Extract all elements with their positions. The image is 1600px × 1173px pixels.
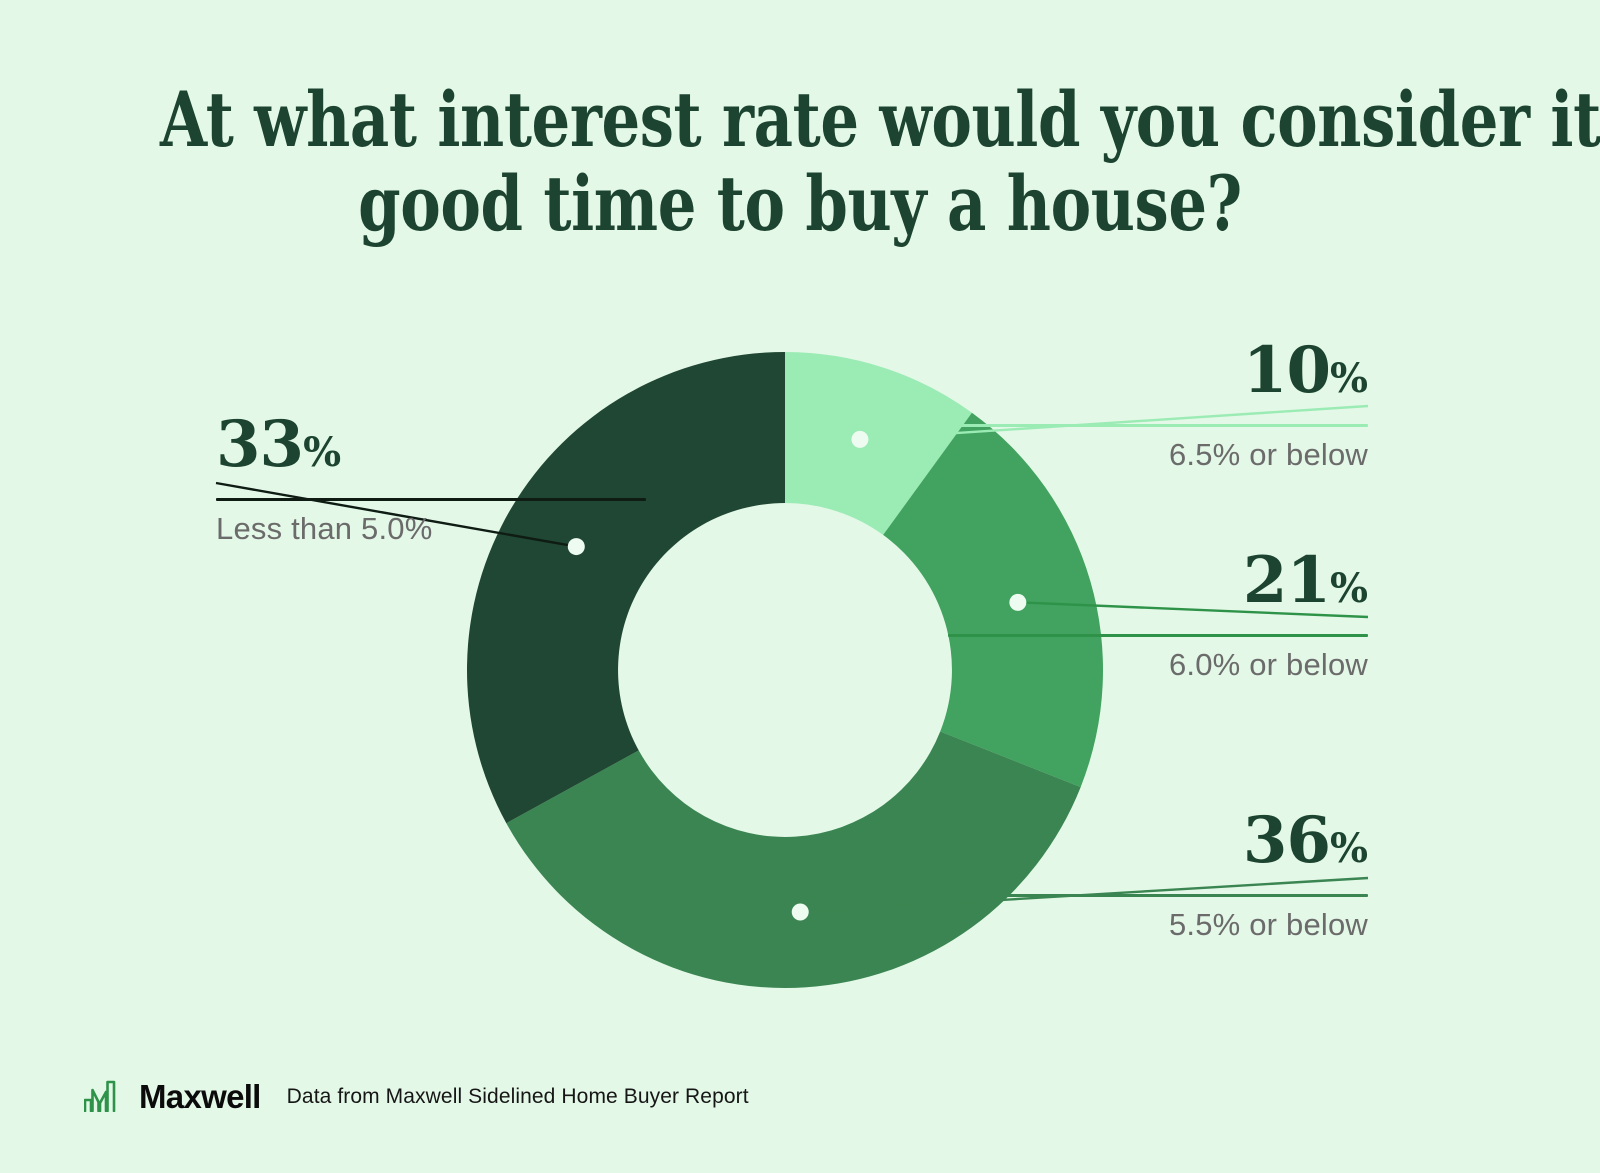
callout-rule-36	[948, 894, 1368, 897]
leader-dot-36	[792, 903, 809, 920]
callout-rule-33	[216, 498, 646, 501]
page-title-line-2: good time to buy a house?	[160, 162, 1440, 246]
page-title: At what interest rate would you consider…	[0, 78, 1600, 246]
callout-rule-21	[948, 634, 1368, 637]
callout-label-33: Less than 5.0%	[216, 511, 646, 547]
donut-slice-10[interactable]	[785, 352, 972, 535]
footer: Maxwell Data from Maxwell Sidelined Home…	[84, 1076, 749, 1117]
callout-value-33: 33%	[216, 412, 646, 486]
callout-5-5-or-below: 36% 5.5% or below	[948, 808, 1368, 943]
callout-rule-10	[948, 424, 1368, 427]
page-title-line-1: At what interest rate would you consider…	[160, 78, 1440, 162]
callout-number: 21	[1243, 543, 1330, 618]
callout-6-0-or-below: 21% 6.0% or below	[948, 548, 1368, 683]
maxwell-bar-chart-logo-icon	[84, 1076, 130, 1117]
callout-number: 10	[1243, 333, 1330, 408]
footer-source-note: Data from Maxwell Sidelined Home Buyer R…	[287, 1086, 749, 1107]
callout-less-than-5-0: 33% Less than 5.0%	[216, 412, 646, 547]
brand-name: Maxwell	[139, 1080, 261, 1113]
percent-sign: %	[1330, 825, 1368, 872]
callout-value-21: 21%	[948, 548, 1368, 622]
infographic-canvas: At what interest rate would you consider…	[0, 0, 1600, 1173]
leader-dot-10	[851, 431, 868, 448]
callout-value-10: 10%	[948, 338, 1368, 412]
callout-6-5-or-below: 10% 6.5% or below	[948, 338, 1368, 473]
callout-number: 36	[1243, 803, 1330, 878]
callout-label-36: 5.5% or below	[948, 907, 1368, 943]
percent-sign: %	[1330, 565, 1368, 612]
percent-sign: %	[303, 429, 341, 476]
callout-label-10: 6.5% or below	[948, 437, 1368, 473]
callout-number: 33	[216, 407, 303, 482]
percent-sign: %	[1330, 355, 1368, 402]
callout-label-21: 6.0% or below	[948, 647, 1368, 683]
brand-lockup: Maxwell	[84, 1076, 261, 1117]
callout-value-36: 36%	[948, 808, 1368, 882]
